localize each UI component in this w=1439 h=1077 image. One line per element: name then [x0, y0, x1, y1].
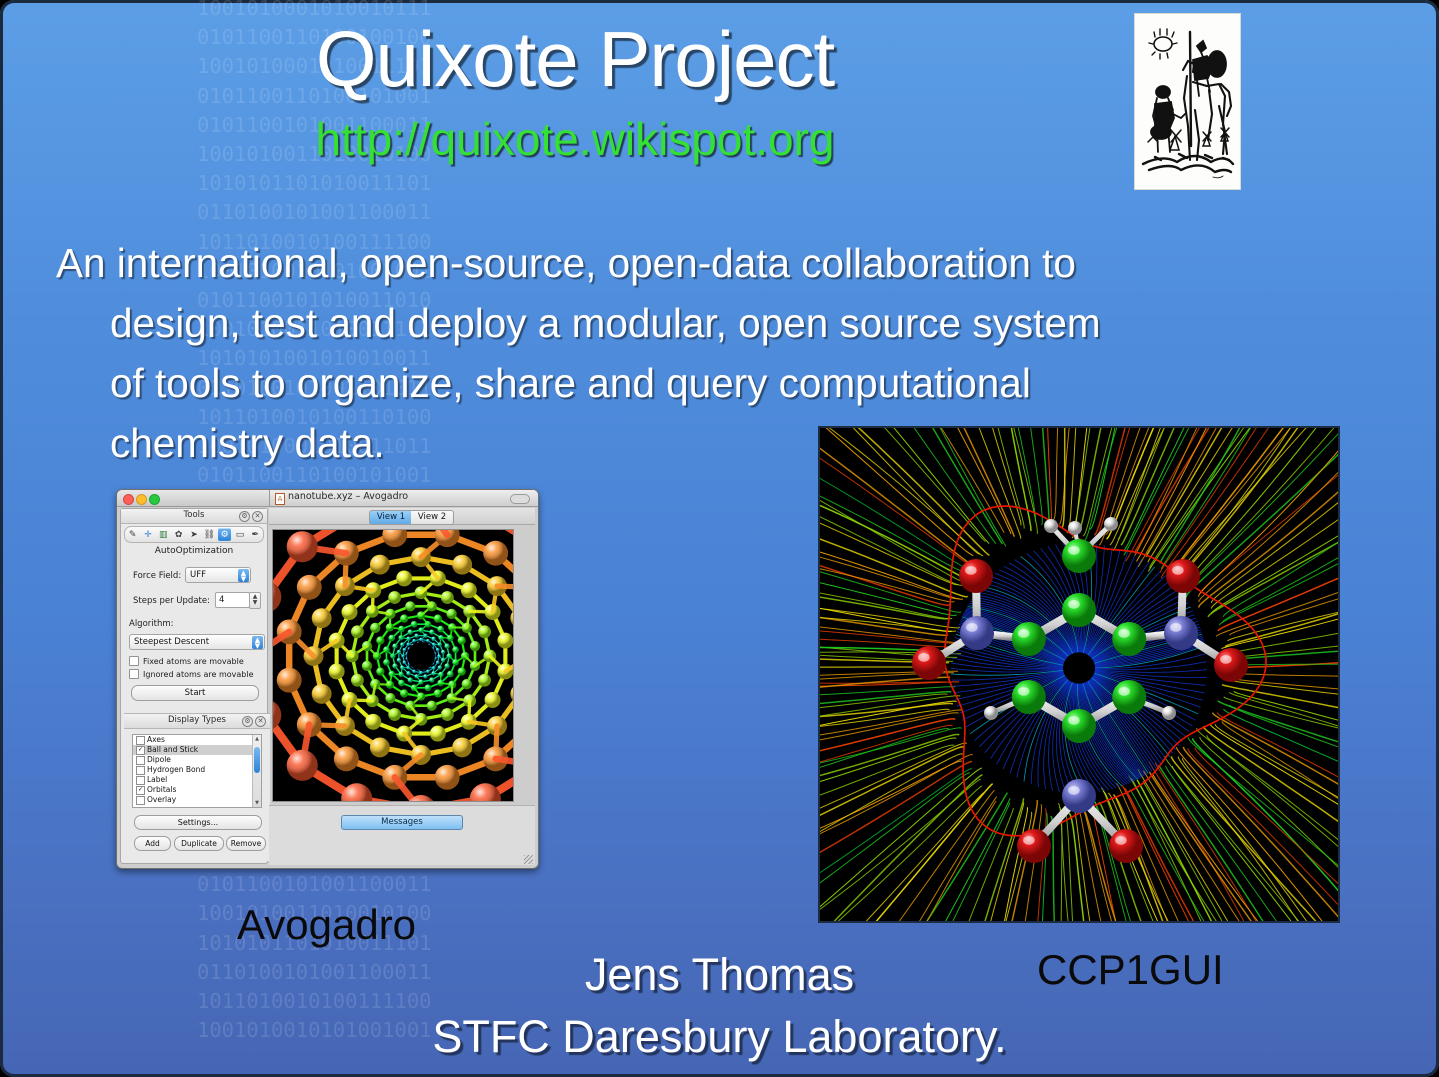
draw-tool-icon[interactable]: ✎: [126, 528, 139, 541]
close-window-icon[interactable]: [123, 494, 134, 505]
view-tabs: View 1 View 2: [269, 508, 535, 525]
display-types-panel: Display Types ⚙ ✕ Axes ✓Ball and Stick D…: [124, 713, 270, 861]
select-arrow-icon[interactable]: ➤: [187, 528, 200, 541]
checkbox-icon[interactable]: [136, 776, 145, 785]
list-item-label: Orbitals: [147, 785, 176, 794]
display-types-header: Display Types ⚙ ✕: [124, 714, 270, 729]
body-line-2: design, test and deploy a modular, open …: [56, 293, 1346, 353]
list-item-label: Overlay: [147, 795, 176, 804]
navigate-tool-icon[interactable]: ✛: [141, 528, 154, 541]
add-button[interactable]: Add: [134, 836, 171, 851]
body-line-3: of tools to organize, share and query co…: [56, 353, 1346, 413]
checkbox-icon[interactable]: [129, 656, 139, 666]
avogadro-screenshot: A nanotube.xyz – Avogadro Tools ⚙ ✕ ✎ ✛ …: [116, 489, 539, 869]
minimize-window-icon[interactable]: [136, 494, 147, 505]
tab-view-1[interactable]: View 1: [369, 510, 413, 525]
manipulate-tool-icon[interactable]: ✿: [172, 528, 185, 541]
align-tool-icon[interactable]: ▭: [233, 528, 246, 541]
steps-per-update-label: Steps per Update:: [133, 596, 210, 606]
panel-gear-icon[interactable]: ⚙: [239, 511, 250, 522]
ignored-atoms-label: Ignored atoms are movable: [143, 670, 254, 679]
tools-panel: Tools ⚙ ✕ ✎ ✛ ▥ ✿ ➤ ⛓ ⚙ ▭ ✒ AutoOptimiza…: [120, 508, 268, 864]
checkbox-icon[interactable]: [136, 756, 145, 765]
tools-toolbar: ✎ ✛ ▥ ✿ ➤ ⛓ ⚙ ▭ ✒: [124, 526, 264, 543]
panel-close-icon[interactable]: ✕: [255, 716, 266, 727]
presentation-slide: 1001010001010010111 0101100110100100100 …: [0, 0, 1439, 1077]
list-scrollbar[interactable]: ▲ ▼: [252, 735, 261, 807]
settings-button[interactable]: Settings...: [134, 815, 262, 830]
list-item-label: Ball and Stick: [147, 745, 198, 754]
force-field-label: Force Field:: [133, 571, 181, 581]
list-item[interactable]: Hydrogen Bond: [133, 765, 261, 775]
messages-button[interactable]: Messages: [341, 815, 463, 830]
resize-grip[interactable]: [524, 855, 533, 864]
list-item[interactable]: Dipole: [133, 755, 261, 765]
author-block: Jens Thomas STFC Daresbury Laboratory.: [0, 944, 1439, 1068]
messages-area: Messages: [269, 805, 535, 865]
fixed-atoms-label: Fixed atoms are movable: [143, 657, 244, 666]
force-field-select[interactable]: UFF ▲▼: [185, 567, 251, 583]
avogadro-document-titlebar: A nanotube.xyz – Avogadro: [269, 490, 538, 507]
avogadro-caption: Avogadro: [237, 901, 416, 949]
list-item[interactable]: Overlay: [133, 795, 261, 805]
panel-gear-icon[interactable]: ⚙: [242, 716, 253, 727]
display-types-list[interactable]: Axes ✓Ball and Stick Dipole Hydrogen Bon…: [132, 734, 262, 808]
author-affiliation: STFC Daresbury Laboratory.: [0, 1006, 1439, 1068]
list-item[interactable]: Label: [133, 775, 261, 785]
autooptimization-label: AutoOptimization: [121, 546, 267, 556]
chevron-down-icon[interactable]: ▼: [254, 800, 260, 806]
checkbox-icon[interactable]: [136, 796, 145, 805]
zoom-window-icon[interactable]: [149, 494, 160, 505]
list-item-label: Axes: [147, 735, 165, 744]
page-title: Quixote Project: [0, 14, 1150, 105]
start-button[interactable]: Start: [131, 685, 259, 701]
molecule-3d-viewport[interactable]: [272, 529, 514, 802]
body-line-1: An international, open-source, open-data…: [56, 233, 1346, 293]
author-name: Jens Thomas: [585, 949, 854, 1000]
panel-close-icon[interactable]: ✕: [252, 511, 263, 522]
checkbox-icon[interactable]: [136, 736, 145, 745]
remove-button[interactable]: Remove: [226, 836, 266, 851]
checkbox-icon[interactable]: ✓: [136, 746, 145, 755]
checkbox-icon[interactable]: ✓: [136, 786, 145, 795]
tab-view-2[interactable]: View 2: [411, 510, 454, 525]
algorithm-value: Steepest Descent: [134, 637, 209, 647]
list-item-label: Label: [147, 775, 167, 784]
toolbar-toggle-icon[interactable]: [510, 494, 530, 504]
autooptimize-gear-icon[interactable]: ⚙: [218, 528, 231, 541]
project-url-link[interactable]: http://quixote.wikispot.org: [0, 112, 1150, 166]
ignored-atoms-checkbox-row[interactable]: Ignored atoms are movable: [129, 669, 254, 679]
list-item-label: Hydrogen Bond: [147, 765, 205, 774]
list-item[interactable]: ✓Ball and Stick: [133, 745, 261, 755]
algorithm-select[interactable]: Steepest Descent ▲▼: [129, 634, 265, 650]
fixed-atoms-checkbox-row[interactable]: Fixed atoms are movable: [129, 656, 244, 666]
list-item[interactable]: Axes: [133, 735, 261, 745]
chevron-updown-icon: ▲▼: [252, 636, 263, 649]
algorithm-label: Algorithm:: [129, 619, 174, 629]
bond-tool-icon[interactable]: ⛓: [203, 528, 216, 541]
avogadro-window-title: nanotube.xyz – Avogadro: [288, 491, 408, 502]
list-item[interactable]: ✓Orbitals: [133, 785, 261, 795]
duplicate-button[interactable]: Duplicate: [174, 836, 224, 851]
chevron-up-icon[interactable]: ▲: [254, 736, 260, 742]
force-field-value: UFF: [190, 570, 206, 580]
ccp1gui-molecule-image: [818, 426, 1340, 923]
chevron-updown-icon: ▲▼: [238, 569, 249, 582]
quantity-stepper[interactable]: ▲▼: [249, 592, 261, 609]
measure-chart-icon[interactable]: ▥: [157, 528, 170, 541]
tools-panel-header: Tools ⚙ ✕: [121, 509, 267, 524]
checkbox-icon[interactable]: [129, 669, 139, 679]
document-icon: A: [275, 493, 285, 505]
checkbox-icon[interactable]: [136, 766, 145, 775]
ruler-tool-icon[interactable]: ✒: [249, 528, 262, 541]
scrollbar-thumb[interactable]: [254, 747, 260, 773]
don-quixote-sketch-icon: [1134, 13, 1241, 190]
steps-per-update-input[interactable]: 4: [215, 592, 250, 608]
list-item-label: Dipole: [147, 755, 171, 764]
